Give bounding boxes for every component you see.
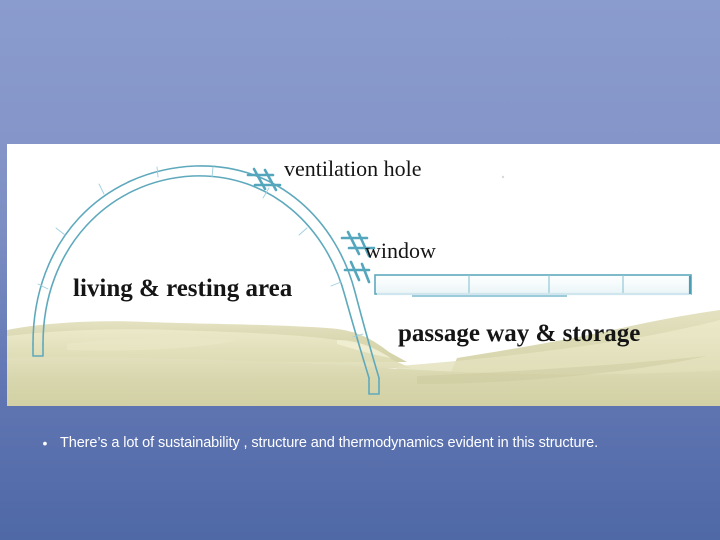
slide: ventilation hole window living & resting…: [0, 0, 720, 540]
label-window: window: [365, 238, 436, 263]
passage-tube-body: [375, 275, 691, 294]
label-living-resting-area: living & resting area: [73, 275, 293, 302]
scan-speck: [502, 176, 504, 178]
label-passage-way-storage: passage way & storage: [398, 320, 640, 347]
label-ventilation-hole: ventilation hole: [284, 156, 421, 181]
shelter-section-diagram: ventilation hole window living & resting…: [7, 144, 720, 406]
bullet-marker-icon: •: [30, 432, 60, 454]
diagram-canvas: ventilation hole window living & resting…: [7, 144, 720, 406]
body-bullet-list: • There’s a lot of sustainability , stru…: [30, 432, 670, 455]
bullet-text: There’s a lot of sustainability , struct…: [60, 432, 670, 455]
passage-tube: [375, 275, 691, 296]
